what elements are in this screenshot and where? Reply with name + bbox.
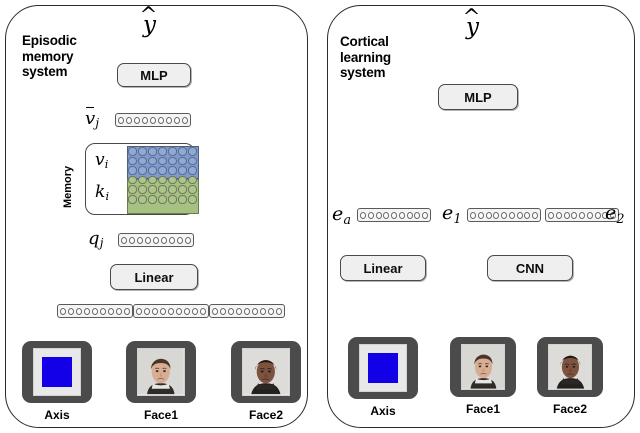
vector-cell [192,308,198,315]
vector-cell [376,212,382,219]
face1-photo-cortical [462,345,505,389]
vector-cell [360,212,366,219]
memory-key-cell [148,195,157,204]
vector-cell [532,212,538,219]
vector-cell [260,308,266,315]
memory-column [148,147,157,204]
value-readout-vector [115,113,191,127]
output-label-cortical: ^y [466,14,479,40]
memory-value-cell [168,147,177,156]
memory-value-cell [138,166,147,175]
memory-value-cell [138,147,147,156]
memory-key-cell [128,176,137,185]
face2-photo-frame-episodic [242,348,290,395]
vector-cell [160,308,166,315]
memory-value-cell [148,147,157,156]
vector-cell [414,212,420,219]
vector-cell [212,308,218,315]
vector-cell [68,308,74,315]
memory-value-cell [188,166,197,175]
vector-cell [142,117,148,124]
vector-cell [129,237,135,244]
memory-key-cell [128,195,137,204]
vector-cell [60,308,66,315]
memory-key-cell [138,185,147,194]
memory-value-cell [128,147,137,156]
vector-cell [268,308,274,315]
memory-label: Memory [62,152,74,208]
memory-key-cell [158,195,167,204]
memory-key-cell [128,185,137,194]
face2-photo-frame-cortical [548,344,593,390]
memory-value-cell [178,147,187,156]
vector-cell [177,237,183,244]
memory-value-cell [168,157,177,166]
vector-cell [158,117,164,124]
vector-cell [145,237,151,244]
input-tile-face2-cortical[interactable] [537,337,603,397]
memory-key-cell [138,195,147,204]
vector-cell [168,308,174,315]
query-vector [118,233,194,247]
vector-cell [236,308,242,315]
vector-cell [182,117,188,124]
panel-title-cortical: Cortical learning system [340,34,450,81]
cnn-box-cortical[interactable]: CNN [487,255,573,281]
vector-cell [153,237,159,244]
concat-segment [209,304,285,318]
memory-key-cell [188,185,197,194]
vector-cell [150,117,156,124]
vector-cell [383,212,389,219]
memory-column [138,147,147,204]
memory-key-cell [178,176,187,185]
memory-key-cell [168,185,177,194]
vector-cell [252,308,258,315]
memory-key-cell [188,195,197,204]
input-tile-face1-cortical[interactable] [450,337,516,397]
face1-photo-frame-cortical [461,344,506,390]
vector-cell [493,212,499,219]
concat-segment [133,304,209,318]
memory-key-cell [168,176,177,185]
memory-key-cell [138,176,147,185]
memory-value-cell [178,157,187,166]
embed-face1-label: e1 [442,202,461,226]
vector-cell [556,212,562,219]
vector-cell [185,237,191,244]
input-tile-face2-episodic[interactable] [231,341,301,403]
vector-cell [136,308,142,315]
vector-cell [422,212,428,219]
vector-cell [587,212,593,219]
memory-value-cell [188,147,197,156]
value-readout-label: vj [85,108,99,130]
axis-blue-square-episodic [42,357,72,387]
input-tile-axis-cortical[interactable] [348,337,418,399]
vector-cell [126,117,132,124]
memory-column [158,147,167,204]
vector-cell [517,212,523,219]
vector-cell [595,212,601,219]
face1-photo-episodic [138,349,184,394]
memory-value-cell [158,157,167,166]
memory-key-cell [148,185,157,194]
vector-cell [176,308,182,315]
memory-value-cell [178,166,187,175]
embed-face2-label: e2 [605,202,624,226]
memory-value-cell [128,157,137,166]
memory-key-row-label: ki [95,182,109,203]
vector-cell [368,212,374,219]
vector-cell [116,308,122,315]
vector-cell [92,308,98,315]
vector-cell [548,212,554,219]
axis-swatch-frame-episodic [33,348,81,395]
vector-cell [244,308,250,315]
linear-label-cortical: Linear [363,261,402,276]
face1-photo-frame-episodic [137,348,185,395]
vector-cell [161,237,167,244]
vector-cell [509,212,515,219]
memory-value-cell [158,166,167,175]
vector-cell [470,212,476,219]
vector-cell [564,212,570,219]
vector-cell [84,308,90,315]
vector-cell [121,237,127,244]
figure-canvas: Episodic memory system ^y MLP vj Memory … [0,0,640,433]
vector-cell [100,308,106,315]
vector-cell [501,212,507,219]
vector-cell [134,117,140,124]
embed-axis-vector [357,208,431,222]
vector-cell [124,308,130,315]
memory-key-cell [178,195,187,204]
vector-cell [276,308,282,315]
vector-cell [579,212,585,219]
axis-swatch-frame-cortical [359,344,407,391]
memory-key-cell [168,195,177,204]
linear-box-episodic[interactable]: Linear [110,264,198,290]
input-tile-axis-episodic[interactable] [22,341,92,403]
vector-cell [478,212,484,219]
embed-face1-vector [467,208,541,222]
memory-key-cell [188,176,197,185]
memory-column [168,147,177,204]
mlp-box-cortical[interactable]: MLP [438,84,518,110]
vector-cell [118,117,124,124]
vector-cell [166,117,172,124]
vector-cell [399,212,405,219]
memory-column [128,147,137,204]
vector-cell [220,308,226,315]
input-tile-face1-episodic[interactable] [126,341,196,403]
query-label: qj [88,228,103,250]
vector-cell [228,308,234,315]
vector-cell [184,308,190,315]
memory-key-cell [158,185,167,194]
embed-axis-label: ea [332,203,351,227]
output-label-episodic: ^y [143,12,156,38]
input-caption-axis-cortical: Axis [348,404,418,418]
input-caption-face2-cortical: Face2 [537,402,603,416]
vector-cell [169,237,175,244]
input-caption-face1-cortical: Face1 [450,402,516,416]
face2-photo-cortical [549,345,592,389]
input-caption-face2-episodic: Face2 [231,408,301,422]
mlp-box-episodic[interactable]: MLP [117,63,191,87]
memory-value-row-label: vi [95,150,108,171]
mlp-label-episodic: MLP [140,68,167,83]
cnn-label-cortical: CNN [516,261,544,276]
concatenated-input-vector [57,304,285,318]
memory-value-cell [138,157,147,166]
memory-value-cell [148,166,157,175]
memory-column [188,147,197,204]
memory-key-cell [148,176,157,185]
vector-cell [524,212,530,219]
memory-value-cell [128,166,137,175]
mlp-label-cortical: MLP [464,90,491,105]
memory-value-cell [158,147,167,156]
memory-cell-grid [128,147,197,204]
linear-label-episodic: Linear [134,270,173,285]
vector-cell [152,308,158,315]
memory-key-cell [158,176,167,185]
vector-cell [391,212,397,219]
vector-cell [108,308,114,315]
linear-box-cortical[interactable]: Linear [340,255,426,281]
vector-cell [76,308,82,315]
memory-column [178,147,187,204]
input-caption-axis-episodic: Axis [22,408,92,422]
input-caption-face1-episodic: Face1 [126,408,196,422]
memory-value-cell [188,157,197,166]
panel-title-episodic: Episodic memory system [22,33,122,80]
memory-value-cell [168,166,177,175]
vector-cell [174,117,180,124]
vector-cell [137,237,143,244]
memory-value-cell [148,157,157,166]
memory-key-cell [178,185,187,194]
vector-cell [144,308,150,315]
concat-segment [57,304,133,318]
vector-cell [571,212,577,219]
axis-blue-square-cortical [368,353,398,383]
vector-cell [486,212,492,219]
face2-photo-episodic [243,349,289,394]
vector-cell [200,308,206,315]
vector-cell [407,212,413,219]
